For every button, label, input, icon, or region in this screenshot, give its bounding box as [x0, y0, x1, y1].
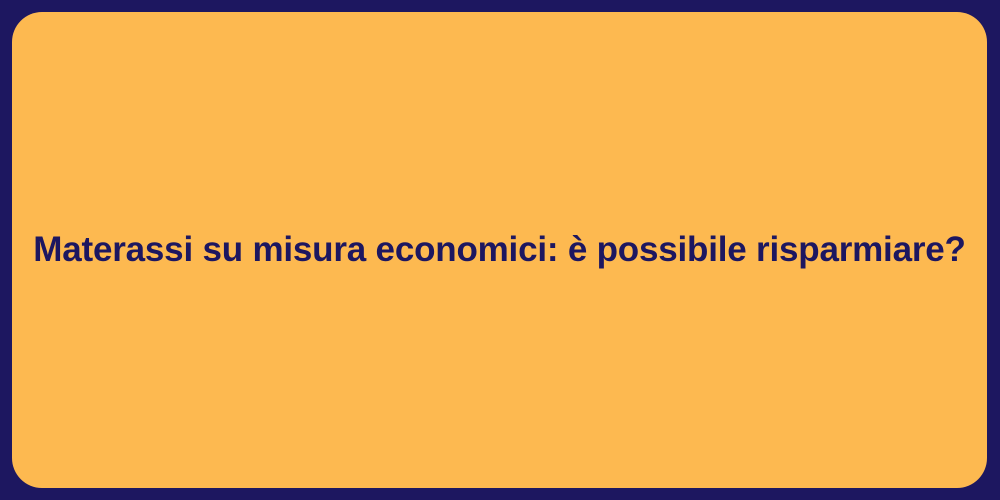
banner-headline: Materassi su misura economici: è possibi… — [12, 229, 987, 271]
banner-frame: Materassi su misura economici: è possibi… — [0, 0, 1000, 500]
banner-card: Materassi su misura economici: è possibi… — [12, 12, 987, 488]
